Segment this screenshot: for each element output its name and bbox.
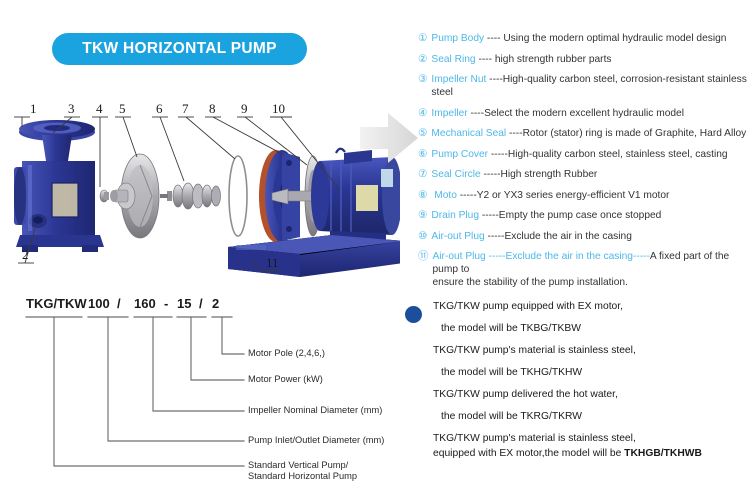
legend-part-name-4: Impeller: [431, 108, 467, 119]
legend-number-2: ②: [418, 53, 427, 66]
model-label-inlet-outlet: Pump Inlet/Outlet Diameter (mm): [248, 435, 384, 447]
legend-item-11: ⑪ Air-out Plug -----Exclude the air in t…: [418, 250, 756, 289]
legend-desc-6: High-quality carbon steel, stainless ste…: [508, 149, 728, 160]
legend-part-name-3: Impeller Nut: [431, 74, 486, 85]
note-line-2: the model will be TKBG/TKBW: [433, 322, 756, 335]
note-line-5: TKG/TKW pump delivered the hot water,: [433, 388, 756, 401]
legend-separator-3: ----: [486, 74, 502, 85]
legend-part-name-10: Air-out Plug: [431, 231, 484, 242]
legend-desc-8: Y2 or YX3 series energy-efficient V1 mot…: [477, 190, 670, 201]
model-label-motor-pole: Motor Pole (2,4,6,): [248, 348, 325, 360]
legend-item-1: ① Pump Body ---- Using the modern optima…: [418, 32, 756, 45]
parts-legend-list: ① Pump Body ---- Using the modern optima…: [418, 32, 756, 297]
legend-number-8: ⑧: [418, 189, 427, 202]
legend-separator-2: ----: [476, 54, 495, 65]
legend-part-name-5: Mechanical Seal: [431, 128, 506, 139]
note-line-3: TKG/TKW pump's material is stainless ste…: [433, 344, 756, 357]
callout-7: 7: [182, 101, 189, 117]
legend-item-5: ⑤ Mechanical Seal ----Rotor (stator) rin…: [418, 127, 756, 140]
model-variant-notes: TKG/TKW pump equipped with EX motor, the…: [400, 300, 756, 469]
legend-item-3: ③ Impeller Nut ----High-quality carbon s…: [418, 73, 756, 99]
note-line-7: TKG/TKW pump's material is stainless ste…: [433, 432, 756, 445]
legend-separator-8: -----: [457, 190, 477, 201]
legend-desc-9: Empty the pump case once stopped: [499, 210, 662, 221]
page-canvas: TKW HORIZONTAL PUMP: [0, 0, 756, 500]
page-title-banner: TKW HORIZONTAL PUMP: [52, 33, 307, 65]
callout-6: 6: [156, 101, 163, 117]
legend-item-2: ② Seal Ring ---- high strength rubber pa…: [418, 53, 756, 66]
legend-part-name-9: Drain Plug: [431, 210, 479, 221]
legend-desc-11-blue: Air-out Plug -----Exclude the air in the…: [433, 251, 650, 262]
legend-part-name-1: Pump Body: [431, 33, 484, 44]
callout-2: 2: [22, 247, 29, 263]
legend-desc-2: high strength rubber parts: [495, 54, 612, 65]
legend-item-4: ④ Impeller ----Select the modern excelle…: [418, 107, 756, 120]
legend-number-11: ⑪: [418, 250, 429, 263]
callout-4: 4: [96, 101, 103, 117]
legend-number-4: ④: [418, 107, 427, 120]
model-label-motor-power: Motor Power (kW): [248, 374, 323, 386]
model-label-standard-line2: Standard Horizontal Pump: [248, 471, 357, 483]
note-line-6: the model will be TKRG/TKRW: [433, 410, 756, 423]
callout-11: 11: [266, 255, 279, 271]
right-arrow-icon: [358, 107, 420, 169]
legend-separator-10: -----: [485, 231, 505, 242]
legend-number-1: ①: [418, 32, 427, 45]
legend-desc-5: Rotor (stator) ring is made of Graphite,…: [523, 128, 747, 139]
legend-number-10: ⑩: [418, 230, 427, 243]
callout-8: 8: [209, 101, 216, 117]
callout-10: 10: [272, 101, 285, 117]
legend-desc-1: Using the modern optimal hydraulic model…: [503, 33, 726, 44]
legend-item-9: ⑨ Drain Plug -----Empty the pump case on…: [418, 209, 756, 222]
legend-separator-4: ----: [468, 108, 484, 119]
model-label-standard-line1: Standard Vertical Pump/: [248, 460, 348, 472]
legend-number-7: ⑦: [418, 168, 427, 181]
legend-separator-1: ----: [484, 33, 503, 44]
legend-desc-4: Select the modern excellent hydraulic mo…: [484, 108, 684, 119]
model-designation-block: TKG/TKW 100 / 160 - 15 / 2: [0, 296, 400, 496]
callout-9: 9: [241, 101, 248, 117]
legend-item-7: ⑦ Seal Circle -----High strength Rubber: [418, 168, 756, 181]
legend-number-6: ⑥: [418, 148, 427, 161]
callout-5: 5: [119, 101, 126, 117]
page-title: TKW HORIZONTAL PUMP: [82, 40, 277, 58]
legend-part-name-8: Moto: [434, 190, 457, 201]
legend-desc-11-line2: ensure the stability of the pump install…: [433, 276, 756, 289]
legend-number-3: ③: [418, 73, 427, 86]
legend-number-9: ⑨: [418, 209, 427, 222]
legend-part-name-2: Seal Ring: [431, 54, 475, 65]
legend-item-8: ⑧ Moto -----Y2 or YX3 series energy-effi…: [418, 189, 756, 202]
note-line-8-prefix: equipped with EX motor,the model will be: [433, 448, 624, 459]
legend-separator-9: -----: [479, 210, 499, 221]
legend-separator-7: -----: [481, 169, 501, 180]
note-line-4: the model will be TKHG/TKHW: [433, 366, 756, 379]
note-line-8-model: TKHGB/TKHWB: [624, 448, 702, 459]
legend-separator-5: ----: [506, 128, 522, 139]
note-line-1: TKG/TKW pump equipped with EX motor,: [433, 300, 756, 313]
exploded-pump-diagram: 1 3 4 5 6 7 8 9 10 2 11: [0, 95, 400, 295]
legend-part-name-7: Seal Circle: [431, 169, 480, 180]
legend-item-6: ⑥ Pump Cover -----High-quality carbon st…: [418, 148, 756, 161]
legend-desc-10: Exclude the air in the casing: [504, 231, 631, 242]
bullet-point-icon: [405, 306, 422, 323]
legend-part-name-6: Pump Cover: [431, 149, 488, 160]
callout-3: 3: [68, 101, 75, 117]
note-line-8: equipped with EX motor,the model will be…: [433, 447, 756, 460]
legend-number-5: ⑤: [418, 127, 427, 140]
legend-item-10: ⑩ Air-out Plug -----Exclude the air in t…: [418, 230, 756, 243]
callout-1: 1: [30, 101, 37, 117]
legend-desc-7: High strength Rubber: [500, 169, 597, 180]
model-label-impeller-dia: Impeller Nominal Diameter (mm): [248, 405, 382, 417]
legend-separator-6: -----: [488, 149, 508, 160]
